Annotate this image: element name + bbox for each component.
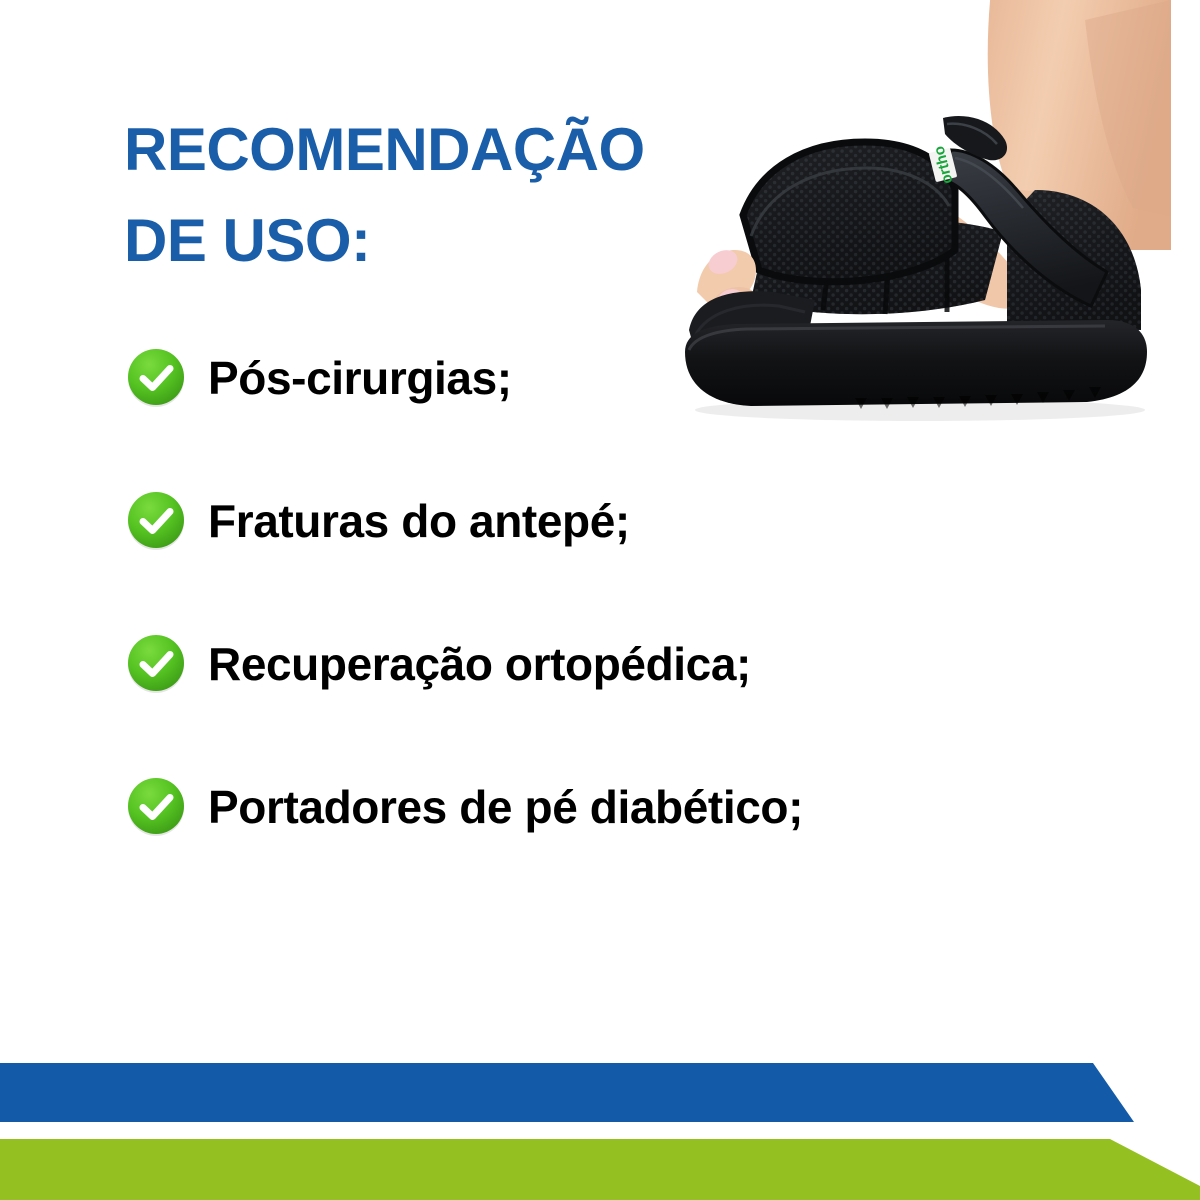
footer-blue-bar [0,1063,1134,1122]
list-item-label: Fraturas do antepé; [208,498,630,544]
list-item-label: Pós-cirurgias; [208,355,512,401]
green-check-circle-icon [126,633,188,695]
green-check-circle-icon [126,776,188,838]
list-item: Fraturas do antepé; [126,485,1086,557]
green-check-circle-icon [126,490,188,552]
list-item-label: Portadores de pé diabético; [208,784,803,830]
list-item: Portadores de pé diabético; [126,771,1086,843]
post-surgical-shoe-on-foot-photo: ortho [655,0,1200,450]
list-item-label: Recuperação ortopédica; [208,641,751,687]
recommendation-poster: RECOMENDAÇÃO DE USO: Pó [0,0,1200,1200]
list-item: Recuperação ortopédica; [126,628,1086,700]
green-check-circle-icon [126,347,188,409]
footer-green-bar [0,1139,1200,1200]
